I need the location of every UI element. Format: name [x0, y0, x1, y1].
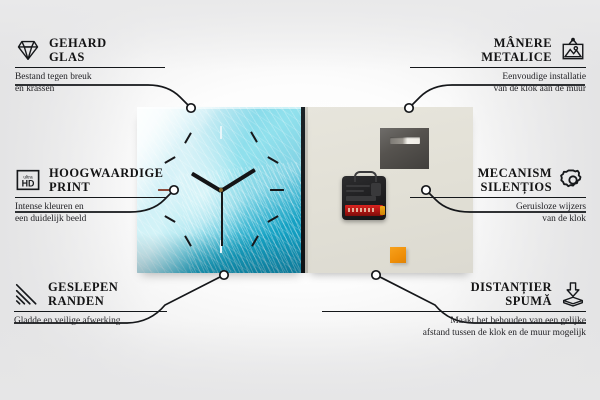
callout-title-line2: SILENȚIOS	[478, 180, 552, 194]
callout-rule	[15, 67, 165, 68]
callout-title-line2: RANDEN	[48, 294, 118, 308]
callout-rule	[15, 197, 167, 198]
callout-manere-metalice: MÂNERE METALICE Eenvoudige installatie v…	[386, 36, 586, 96]
callout-header: ultra HD HOOGWAARDIGE PRINT	[15, 166, 200, 194]
back-panel-edge	[305, 107, 308, 273]
mechanism-loop	[354, 171, 377, 182]
callout-header: MECANISM SILENȚIOS	[386, 166, 586, 194]
callout-gehard-glas: GEHARD GLAS Bestand tegen breuk en krass…	[15, 36, 190, 96]
callout-subtitle-line1: Intense kleuren en	[15, 202, 200, 214]
callout-title-line2: GLAS	[49, 50, 107, 64]
callout-rule	[410, 67, 586, 68]
callout-header: MÂNERE METALICE	[386, 36, 586, 64]
ultra-hd-icon: ultra HD	[15, 167, 41, 193]
glass-edge	[301, 107, 305, 273]
metal-hanger	[380, 128, 429, 169]
callout-title-line1: GEHARD	[49, 36, 107, 50]
callout-title-line2: SPUMĂ	[471, 294, 552, 308]
callout-rule	[410, 197, 586, 198]
face-highlight	[137, 107, 305, 109]
callout-rule	[322, 311, 586, 312]
mechanism-detail	[371, 183, 381, 196]
callout-rule	[14, 311, 167, 312]
callout-subtitle-line1: Gladde en veilige afwerking	[14, 316, 199, 328]
product-infographic: GEHARD GLAS Bestand tegen breuk en krass…	[0, 0, 600, 400]
clock-tick-12	[220, 126, 222, 139]
callout-subtitle-line2: een duidelijk beeld	[15, 214, 200, 226]
mechanism-detail	[346, 185, 370, 187]
mechanism-detail	[346, 196, 376, 201]
diagonal-lines-icon	[14, 281, 40, 307]
callout-title-line1: DISTANȚIER	[471, 280, 552, 294]
callout-subtitle-line1: Bestand tegen breuk	[15, 72, 190, 84]
gear-icon	[560, 167, 586, 193]
callout-header: GESLEPEN RANDEN	[14, 280, 199, 308]
callout-subtitle-line2: van de klok	[386, 214, 586, 226]
callout-distantier-spuma: DISTANȚIER SPUMĂ Maakt het behouden van …	[296, 280, 586, 340]
diamond-icon	[15, 37, 41, 63]
callout-subtitle-line2: en krassen	[15, 84, 190, 96]
hanger-slot	[390, 137, 420, 144]
svg-text:HD: HD	[22, 179, 35, 189]
callout-title-line1: HOOGWAARDIGE	[49, 166, 163, 180]
callout-geslepen-randen: GESLEPEN RANDEN Gladde en veilige afwerk…	[14, 280, 199, 328]
battery	[345, 205, 383, 216]
callout-title-line1: MÂNERE	[481, 36, 552, 50]
callout-header: DISTANȚIER SPUMĂ	[296, 280, 586, 308]
callout-title-line1: GESLEPEN	[48, 280, 118, 294]
callout-subtitle-line1: Maakt het behouden van een gelijke	[296, 316, 586, 328]
arrow-down-pad-icon	[560, 281, 586, 307]
clock-second-hand	[221, 190, 223, 246]
callout-header: GEHARD GLAS	[15, 36, 190, 64]
silent-mechanism	[342, 176, 386, 220]
foam-spacer	[390, 247, 406, 263]
mechanism-detail	[346, 190, 364, 192]
callout-subtitle-line1: Geruisloze wijzers	[386, 202, 586, 214]
battery-label	[348, 208, 376, 212]
callout-title-line1: MECANISM	[478, 166, 552, 180]
battery-tip	[380, 206, 385, 215]
callout-hoogwaardige-print: ultra HD HOOGWAARDIGE PRINT Intense kleu…	[15, 166, 200, 226]
callout-subtitle-line2: van de klok aan de muur	[386, 84, 586, 96]
callout-title-line2: PRINT	[49, 180, 163, 194]
callout-title-line2: METALICE	[481, 50, 552, 64]
picture-frame-icon	[560, 37, 586, 63]
callout-subtitle-line2: afstand tussen de klok en de muur mogeli…	[296, 328, 586, 340]
callout-mecanism-silentios: MECANISM SILENȚIOS Geruisloze wijzers va…	[386, 166, 586, 226]
clock-center-hub	[219, 188, 223, 192]
callout-subtitle-line1: Eenvoudige installatie	[386, 72, 586, 84]
